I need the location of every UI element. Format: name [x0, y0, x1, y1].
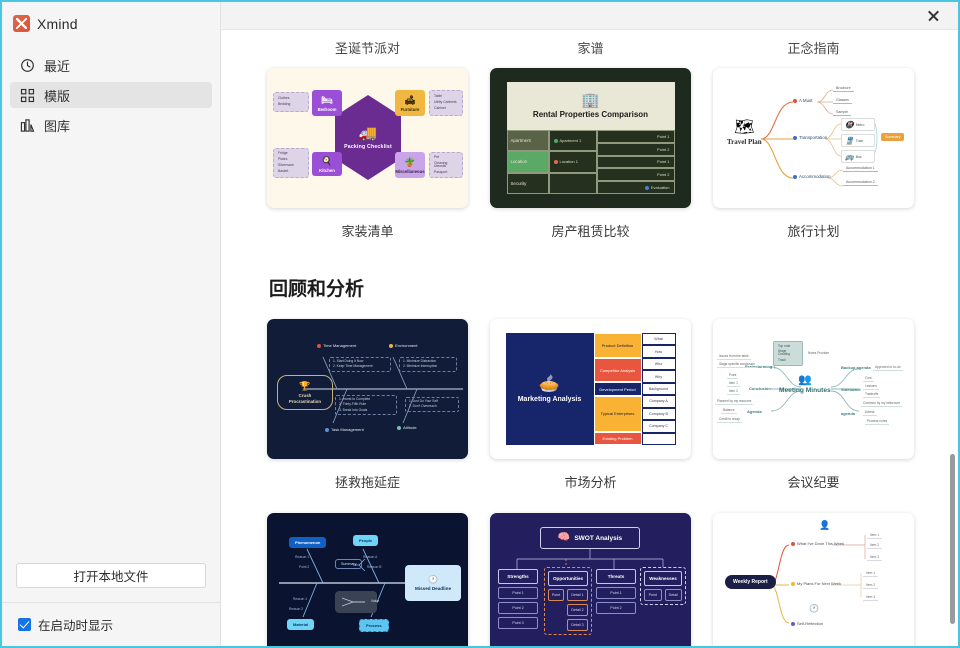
meeting-branch: Sideboard	[841, 387, 861, 392]
table-row: Security	[507, 173, 549, 194]
template-thumbnail[interactable]: 🏢 Rental Properties Comparison Apartment	[490, 68, 691, 208]
template-caption: 家装清单	[267, 208, 468, 262]
bus-icon: 🚌	[845, 153, 854, 161]
marketing-detail-column: What How Who Why Background Company A Co…	[642, 333, 676, 445]
fishbone-node-value: Value	[371, 599, 379, 603]
sidebar-item-recent[interactable]: 最近	[10, 52, 212, 78]
window-titlebar	[221, 2, 958, 30]
table-cell: Competitor Analysis	[594, 358, 642, 383]
sidebar-item-gallery[interactable]: 图库	[10, 112, 212, 138]
table-row: Apartment	[507, 130, 549, 151]
template-item-swot-analysis[interactable]: 🧠 SWOT Analysis Strengths Point 1 Point …	[490, 513, 691, 646]
meeting-root-node: 👥 Meeting Minutes	[779, 375, 831, 394]
meeting-leaf: Approved or to-do	[873, 365, 903, 371]
rental-matrix: 🏢 Rental Properties Comparison Apartment	[507, 82, 675, 194]
main-panel: 圣诞节派对 家谱 正念指南 🚚 Packing Checklist Clo	[221, 2, 958, 646]
template-caption: 正念指南	[713, 30, 914, 68]
table-cell: Evaluation	[597, 181, 675, 194]
swot-column-opportunities: Opportunities Point Detail 1 Detail 2 De…	[544, 567, 592, 635]
plant-icon: 🪴	[404, 157, 415, 168]
swot-column-title: Weaknesses	[644, 571, 682, 586]
template-item-rental-comparison[interactable]: 🏢 Rental Properties Comparison Apartment	[490, 68, 691, 262]
meeting-note-side: Notes Provider	[806, 351, 831, 356]
clock-icon: 🕐	[809, 605, 819, 613]
weekly-leaf: Item 1	[867, 533, 882, 539]
sidebar-item-label: 最近	[44, 56, 70, 75]
swot-point: Point 2	[596, 602, 636, 614]
swot-detail: Detail 3	[567, 619, 588, 631]
packing-center-node: 🚚 Packing Checklist	[335, 95, 401, 180]
swot-root-node: 🧠 SWOT Analysis	[540, 527, 640, 549]
fishbone-head: 🏆 Crush Procrastination	[277, 375, 333, 410]
packing-branch-misc: 🪴 Miscellaneous	[395, 152, 425, 178]
app-brand: Xmind	[2, 2, 220, 36]
template-item-marketing-analysis[interactable]: 🥧 Marketing Analysis Product Definition …	[490, 319, 691, 513]
swot-detail: Detail 1	[567, 589, 588, 601]
building-icon: 🏢	[581, 93, 600, 108]
packing-items: Fridge Plates Silverware Basket	[273, 148, 309, 178]
fishbone-head-missed-deadline: 🕐 Missed Deadline	[405, 565, 461, 601]
meeting-branch: Agenda	[747, 409, 762, 414]
fishbone-node-summary: Summary	[335, 559, 362, 569]
table-cell: Product Definition	[594, 333, 642, 358]
template-item-packing-checklist[interactable]: 🚚 Packing Checklist Clothes Bedding 🛏 Be…	[267, 68, 468, 262]
xmind-logo-icon	[13, 15, 30, 32]
template-thumbnail[interactable]: 🏆 Crush Procrastination Time Management …	[267, 319, 468, 459]
fishbone-tag-phenomenon: Phenomenon	[289, 537, 326, 548]
clock-icon: 🕐	[428, 575, 438, 584]
sidebar-item-label: 图库	[44, 116, 70, 135]
table-cell: Point 1	[597, 156, 675, 169]
merge-arrow-icon	[339, 595, 373, 609]
close-icon[interactable]	[922, 5, 944, 27]
fishbone-group: 1. Just Do Your Self 2. Don't Overreach	[405, 397, 459, 412]
bed-icon: 🛏	[321, 95, 332, 106]
weekly-leaf: Item 2	[863, 583, 878, 589]
fishbone-tag-process: Process	[359, 619, 389, 632]
train-icon: 🚆	[845, 137, 854, 145]
meeting-leaf: Tradeoffs	[863, 392, 880, 398]
packing-branch-furniture: 🛋 Furniture	[395, 90, 425, 116]
fishbone-sub: Reason A	[363, 555, 377, 559]
meeting-leaf: Planned by my resource	[715, 399, 753, 405]
template-item-meeting-minutes[interactable]: Top note Stage Creating Track Notes Prov…	[713, 319, 914, 513]
fishbone-bone-label: Attitude	[397, 425, 417, 430]
meeting-leaf: Item 2	[727, 389, 740, 395]
show-on-startup-row[interactable]: 在启动时显示	[2, 602, 220, 646]
table-cell: Company B	[642, 408, 676, 420]
fishbone-bone-label: Environment	[389, 343, 417, 348]
open-file-wrap: 打开本地文件	[2, 563, 220, 602]
meeting-branch: Backup agenda	[841, 365, 871, 370]
weekly-leaf: Item 1	[863, 571, 878, 577]
travel-branch-amust: A Must	[793, 98, 812, 103]
table-cell	[642, 433, 676, 445]
travel-summary: Summary	[881, 133, 904, 141]
swot-point: Point 2	[498, 602, 538, 614]
table-cell: Point 2	[597, 168, 675, 181]
meeting-branch: agenda	[841, 411, 855, 416]
travel-branch-transportation: Transportation	[793, 135, 827, 140]
clock-icon	[20, 58, 35, 73]
fishbone-tag-people: People	[353, 535, 378, 546]
fishbone-group: 1. Minimize Distraction 2. Minimize Inte…	[399, 357, 457, 372]
swot-point: Point	[548, 589, 564, 601]
meeting-leaf: Item 1	[727, 381, 740, 387]
fishbone-bone-label: Time Management	[317, 343, 356, 348]
marketing-matrix: 🥧 Marketing Analysis Product Definition …	[506, 333, 676, 445]
fishbone-sub: Reason 1	[295, 555, 309, 559]
xmind-start-window: Xmind 最近 模版	[0, 0, 960, 648]
fishbone-sub: Reason 2	[289, 607, 303, 611]
section-title: 回顾和分析	[267, 262, 920, 319]
table-cell: Typical Enterprises	[594, 396, 642, 432]
template-thumbnail[interactable]: Phenomenon Reason 1 Point 2 People Reaso…	[267, 513, 468, 646]
template-row-1: 🚚 Packing Checklist Clothes Bedding 🛏 Be…	[267, 68, 920, 262]
marketing-title-block: 🥧 Marketing Analysis	[506, 333, 594, 445]
rental-node-column: Apartment 1 Location 1	[549, 130, 597, 194]
table-cell: Development Period	[594, 382, 642, 395]
rental-grid: Apartment Location Security	[507, 130, 675, 194]
table-cell: Why	[642, 370, 676, 382]
swot-column-threats: Threats Point 1 Point 2	[596, 569, 636, 614]
meeting-leaf: Common by my influencer	[861, 401, 902, 407]
travel-leaf: Accommodation 2	[843, 180, 878, 186]
weekly-root-node: Weekly Report	[725, 575, 776, 589]
pie-chart-icon: 🥧	[539, 375, 560, 392]
travel-leaf-box: 🚆 Train	[841, 134, 875, 147]
template-caption: 房产租赁比较	[490, 208, 691, 262]
template-row-2: 🏆 Crush Procrastination Time Management …	[267, 319, 920, 513]
meeting-leaf: Stage-specific conclusion	[717, 362, 757, 368]
travel-leaf-box: 🚇 Metro	[841, 118, 875, 131]
table-cell: Location 1	[549, 151, 597, 172]
fishbone-group: 1. Start Doing It Now 2. Keep Time Manag…	[329, 357, 391, 372]
table-cell: How	[642, 345, 676, 357]
template-thumbnail[interactable]: 🚚 Packing Checklist Clothes Bedding 🛏 Be…	[267, 68, 468, 208]
fishbone-group: 1. Invest to Complete 2. Thirty-Fifth Ru…	[335, 395, 397, 415]
sidebar: Xmind 最近 模版	[2, 2, 221, 646]
fishbone-sub: Reason B	[367, 565, 381, 569]
template-item-crush-procrastination[interactable]: 🏆 Crush Procrastination Time Management …	[267, 319, 468, 513]
sofa-icon: 🛋	[404, 95, 415, 106]
meeting-leaf: Lessons	[863, 384, 879, 390]
template-caption: 旅行计划	[713, 208, 914, 262]
meeting-leaf: Advise	[863, 410, 877, 416]
table-cell: Point 2	[597, 143, 675, 156]
packing-branch-kitchen: 🍳 Kitchen	[312, 152, 342, 176]
table-cell: Existing Problem	[594, 432, 642, 445]
marketing-category-column: Product Definition Competitor Analysis D…	[594, 333, 642, 445]
template-thumbnail[interactable]: 🧠 SWOT Analysis Strengths Point 1 Point …	[490, 513, 691, 646]
rental-points-column: Point 1 Point 2 Point 1 Po	[597, 130, 675, 194]
meeting-icon: 👥	[779, 375, 831, 386]
grid-icon	[20, 88, 35, 103]
template-item-missed-deadline[interactable]: Phenomenon Reason 1 Point 2 People Reaso…	[267, 513, 468, 646]
cooker-icon: 🍳	[321, 156, 332, 167]
brain-icon: 🧠	[558, 533, 570, 543]
app-name: Xmind	[37, 16, 78, 32]
packing-items: Pet Cleaning Utensils Passport	[429, 152, 463, 178]
table-cell: Who	[642, 358, 676, 370]
moving-truck-icon: 🚚	[359, 126, 378, 141]
travel-branch-accommodation: Accommodation	[793, 174, 830, 179]
template-caption: 市场分析	[490, 459, 691, 513]
template-thumbnail[interactable]: 🥧 Marketing Analysis Product Definition …	[490, 319, 691, 459]
meeting-leaf: Cost	[863, 376, 874, 382]
fishbone-sub: Point 2	[299, 565, 309, 569]
template-item-travel-plan[interactable]: 🗺 Travel Plan A Must Brochure Glasses Sa…	[713, 68, 914, 262]
meeting-leaf: Balance	[721, 408, 737, 414]
metro-icon: 🚇	[845, 121, 854, 129]
table-cell: Background	[642, 383, 676, 395]
table-cell: What	[642, 333, 676, 345]
meeting-leaf: Issues from the table	[717, 354, 751, 360]
packing-items: Clothes Bedding	[273, 92, 309, 112]
fishbone-tag-material: Material	[287, 619, 314, 630]
meeting-leaf: Credit to recap	[717, 417, 742, 423]
travel-leaf: Sample	[833, 110, 851, 116]
template-row-3: Phenomenon Reason 1 Point 2 People Reaso…	[267, 513, 920, 646]
swot-point: Point 1	[596, 587, 636, 599]
sidebar-nav: 最近 模版 图库	[2, 52, 220, 142]
template-caption: 拯救拖延症	[267, 459, 468, 513]
template-caption: 家谱	[490, 30, 691, 68]
person-icon: 👤	[819, 521, 830, 530]
table-cell: Company A	[642, 395, 676, 407]
show-on-startup-label: 在启动时显示	[38, 615, 113, 634]
template-thumbnail[interactable]: 🗺 Travel Plan A Must Brochure Glasses Sa…	[713, 68, 914, 208]
travel-leaf-box: 🚌 Bus	[841, 150, 875, 163]
sidebar-item-label: 模版	[44, 86, 70, 105]
previous-row-captions: 圣诞节派对 家谱 正念指南	[267, 30, 920, 68]
chart-library-icon	[20, 118, 35, 133]
template-caption: 圣诞节派对	[267, 30, 468, 68]
show-on-startup-checkbox[interactable]	[18, 618, 31, 631]
swot-point: Point 3	[498, 617, 538, 629]
fishbone-bone-label: Task Management	[325, 427, 364, 432]
travel-leaf: Accommodation 1	[843, 166, 878, 172]
swot-column-title: Threats	[596, 569, 636, 584]
swot-detail: Detail 2	[567, 604, 588, 616]
travel-leaf: Brochure	[833, 86, 854, 92]
template-thumbnail[interactable]: Top note Stage Creating Track Notes Prov…	[713, 319, 914, 459]
travel-leaf: Glasses	[833, 98, 852, 104]
templates-scroll-area[interactable]: 圣诞节派对 家谱 正念指南 🚚 Packing Checklist Clo	[221, 30, 958, 646]
open-local-file-button[interactable]: 打开本地文件	[16, 563, 206, 588]
swot-column-title: Strengths	[498, 569, 538, 584]
weekly-leaf: Item 3	[867, 555, 882, 561]
table-cell: Point 1	[597, 130, 675, 143]
swot-point: Point 1	[498, 587, 538, 599]
vertical-scrollbar[interactable]	[950, 454, 955, 624]
meeting-leaf: Point	[727, 373, 738, 379]
rental-row-labels: Apartment Location Security	[507, 130, 549, 194]
sidebar-item-templates[interactable]: 模版	[10, 82, 212, 108]
swot-column-title: Opportunities	[548, 571, 588, 586]
packing-items: Table Utility Cabinets Cabinet	[429, 90, 463, 116]
meeting-floating-note: Top note Stage Creating Track	[773, 341, 803, 366]
template-caption: 会议纪要	[713, 459, 914, 513]
trophy-icon: 🏆	[284, 380, 326, 392]
rental-header: 🏢 Rental Properties Comparison	[507, 82, 675, 130]
table-cell: Company C	[642, 420, 676, 432]
swot-point: Point	[644, 589, 662, 601]
table-row: Location	[507, 151, 549, 172]
weekly-branch-done: What I've Done This Week	[791, 541, 844, 546]
meeting-leaf: Process notes	[865, 419, 889, 425]
weekly-leaf: Item 3	[863, 595, 878, 601]
swot-detail: Detail	[665, 589, 683, 601]
meeting-branch: Conclusion	[749, 386, 771, 391]
swot-column-weaknesses: Weaknesses Point Detail	[640, 567, 686, 605]
template-item-weekly-report[interactable]: 👤 Weekly Report What I've Done This Week…	[713, 513, 914, 646]
packing-branch-bedroom: 🛏 Bedroom	[312, 90, 342, 116]
weekly-leaf: Item 2	[867, 543, 882, 549]
table-cell: Apartment 1	[549, 130, 597, 151]
swot-column-strengths: Strengths Point 1 Point 2 Point 3	[498, 569, 538, 629]
sidebar-spacer	[2, 142, 220, 563]
weekly-branch-reflection: Self-Reflection	[791, 621, 823, 626]
template-thumbnail[interactable]: 👤 Weekly Report What I've Done This Week…	[713, 513, 914, 646]
weekly-branch-plans: My Plans For Next Week	[791, 581, 841, 586]
travel-root-node: 🗺 Travel Plan	[727, 120, 762, 146]
fishbone-sub: Reason 1	[293, 597, 307, 601]
map-icon: 🗺	[727, 120, 762, 136]
table-cell	[549, 173, 597, 194]
